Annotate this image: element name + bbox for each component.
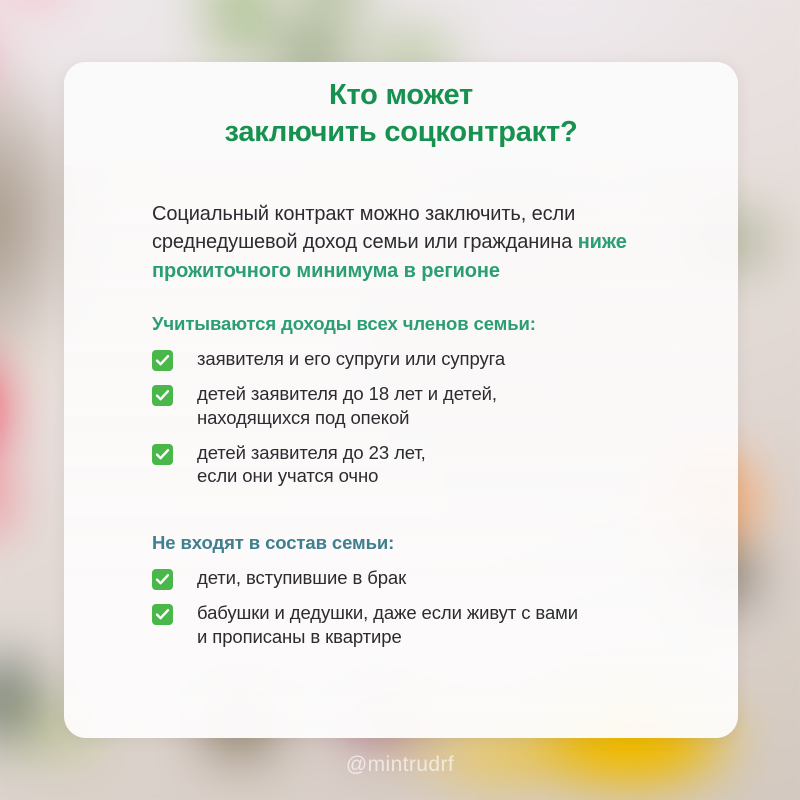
check-icon <box>152 604 173 625</box>
page-title-line-2: заключить соцконтракт? <box>225 116 578 148</box>
list-item: дети, вступившие в брак <box>152 566 694 590</box>
section-excluded-members: Не входят в состав семьи: дети, вступивш… <box>152 532 694 648</box>
list-item: бабушки и дедушки, даже если живут с вам… <box>152 601 694 648</box>
section-included-incomes: Учитываются доходы всех членов семьи: за… <box>152 313 694 488</box>
info-card: Кто может заключить соцконтракт? Социаль… <box>64 62 738 738</box>
section-heading-excluded: Не входят в состав семьи: <box>152 532 694 554</box>
list-item: заявителя и его супруги или супруга <box>152 347 694 371</box>
check-icon <box>152 444 173 465</box>
check-icon <box>152 350 173 371</box>
intro-text: Социальный контракт можно заключить, есл… <box>152 203 578 253</box>
watermark: @mintrudrf <box>0 753 800 777</box>
list-item-label: детей заявителя до 23 лет, если они учат… <box>197 441 426 488</box>
list-item-label: заявителя и его супруги или супруга <box>197 347 505 371</box>
card-title-band: Кто может заключить соцконтракт? <box>64 62 738 166</box>
page-title-line-1: Кто может <box>329 79 473 111</box>
list-item: детей заявителя до 18 лет и детей, наход… <box>152 382 694 429</box>
list-item-label: бабушки и дедушки, даже если живут с вам… <box>197 601 578 648</box>
intro-paragraph: Социальный контракт можно заключить, есл… <box>152 200 694 285</box>
page-title: Кто может заключить соцконтракт? <box>225 77 578 151</box>
list-item: детей заявителя до 23 лет, если они учат… <box>152 441 694 488</box>
list-item-label: дети, вступившие в брак <box>197 566 406 590</box>
poster-canvas: Кто может заключить соцконтракт? Социаль… <box>0 0 800 800</box>
card-content: Социальный контракт можно заключить, есл… <box>152 200 694 648</box>
check-icon <box>152 569 173 590</box>
list-item-label: детей заявителя до 18 лет и детей, наход… <box>197 382 497 429</box>
check-icon <box>152 385 173 406</box>
section-heading-included: Учитываются доходы всех членов семьи: <box>152 313 694 335</box>
